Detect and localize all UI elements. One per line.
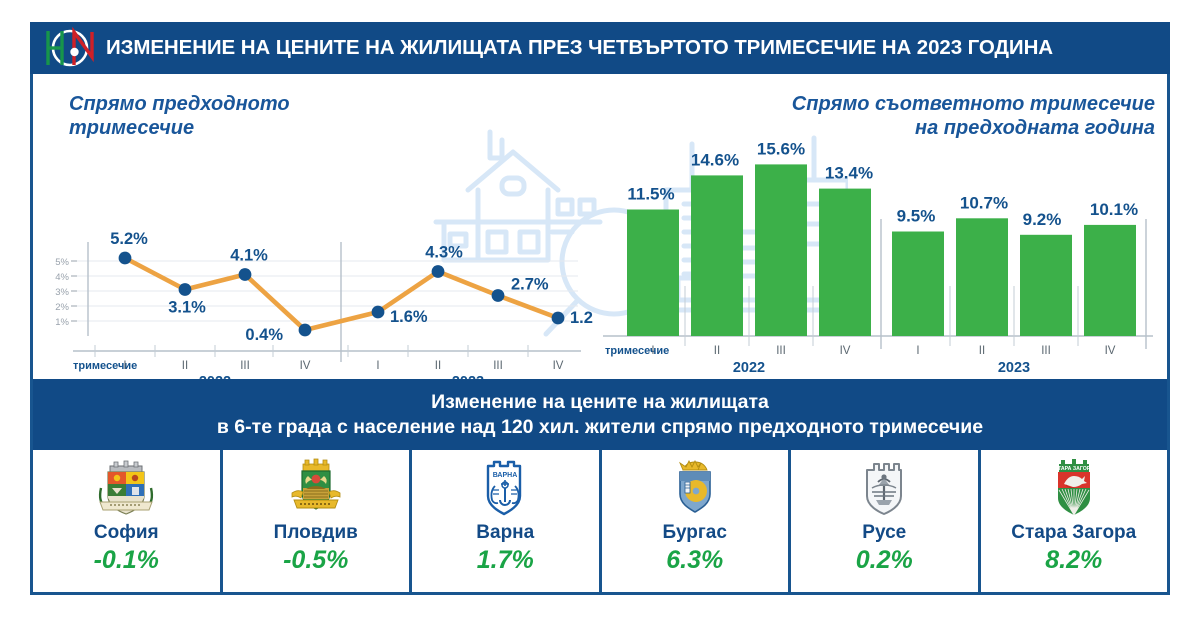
x-tick-label: II bbox=[182, 360, 188, 372]
y-tick-label: 2% bbox=[55, 302, 69, 313]
x-tick-label: II bbox=[435, 360, 441, 372]
city-value: -0.5% bbox=[283, 546, 348, 575]
city-card-6[interactable]: СТАРА ЗАГОРА Стара Загора8.2% bbox=[978, 450, 1168, 592]
bar bbox=[1020, 235, 1072, 336]
header-bar: ИЗМЕНЕНИЕ НА ЦЕНИТЕ НА ЖИЛИЩАТА ПРЕЗ ЧЕТ… bbox=[30, 22, 1170, 74]
y-tick-label: 5% bbox=[55, 257, 69, 268]
plovdiv-coat-of-arms bbox=[284, 458, 348, 520]
data-label: 15.6% bbox=[757, 139, 805, 158]
data-label: 1.2% bbox=[570, 309, 593, 327]
svg-text:СТАРА ЗАГОРА: СТАРА ЗАГОРА bbox=[1054, 466, 1093, 472]
bar bbox=[956, 218, 1008, 336]
x-tick-label: II bbox=[714, 345, 720, 357]
bar bbox=[819, 189, 871, 336]
data-label: 10.1% bbox=[1090, 200, 1138, 219]
data-point bbox=[492, 289, 505, 302]
page-title: ИЗМЕНЕНИЕ НА ЦЕНИТЕ НА ЖИЛИЩАТА ПРЕЗ ЧЕТ… bbox=[106, 36, 1053, 60]
varna-coat-of-arms: ВАРНА bbox=[473, 458, 537, 520]
data-point bbox=[239, 268, 252, 281]
x-tick-label: I bbox=[376, 360, 379, 372]
data-label: 14.6% bbox=[691, 150, 739, 169]
bar bbox=[691, 175, 743, 336]
sofia-coat-of-arms bbox=[94, 458, 158, 520]
x-tick-label: II bbox=[979, 345, 985, 357]
x-tick-label: III bbox=[240, 360, 250, 372]
x-tick-label: III bbox=[1041, 345, 1051, 357]
data-label: 4.3% bbox=[425, 244, 463, 262]
data-label: 10.7% bbox=[960, 193, 1008, 212]
bar bbox=[755, 164, 807, 336]
city-card-4[interactable]: Бургас6.3% bbox=[599, 450, 789, 592]
city-name: Стара Загора bbox=[1011, 522, 1136, 544]
data-point bbox=[432, 265, 445, 278]
data-point bbox=[179, 283, 192, 296]
city-card-3[interactable]: ВАРНА Варна1.7% bbox=[409, 450, 599, 592]
city-value: 1.7% bbox=[477, 546, 534, 575]
nsi-logo bbox=[40, 27, 100, 69]
band-line-1: Изменение на цените на жилищата bbox=[431, 390, 769, 415]
data-label: 5.2% bbox=[110, 230, 148, 248]
city-name: София bbox=[94, 522, 159, 544]
x-tick-label: IV bbox=[840, 345, 851, 357]
data-label: 9.5% bbox=[897, 207, 936, 226]
data-label: 1.6% bbox=[390, 308, 428, 326]
city-value: 0.2% bbox=[856, 546, 913, 575]
bar-chart: 11.5%14.6%15.6%13.4%9.5%10.7%9.2%10.1%тр… bbox=[593, 74, 1167, 379]
data-point bbox=[119, 252, 132, 265]
year-label: 2022 bbox=[733, 360, 765, 376]
x-tick-label: IV bbox=[300, 360, 311, 372]
city-card-2[interactable]: Пловдив-0.5% bbox=[220, 450, 410, 592]
data-label: 3.1% bbox=[168, 299, 206, 317]
bar bbox=[892, 232, 944, 337]
city-value: 6.3% bbox=[666, 546, 723, 575]
data-label: 13.4% bbox=[825, 164, 873, 183]
city-name: Русе bbox=[862, 522, 906, 544]
x-tick-label: I bbox=[916, 345, 919, 357]
bar bbox=[627, 210, 679, 337]
x-tick-label: IV bbox=[553, 360, 564, 372]
city-value: 8.2% bbox=[1045, 546, 1102, 575]
city-card-5[interactable]: Русе0.2% bbox=[788, 450, 978, 592]
x-axis-title: тримесечие bbox=[605, 345, 669, 357]
data-label: 9.2% bbox=[1023, 210, 1062, 229]
band-line-2: в 6-те града с население над 120 хил. жи… bbox=[217, 415, 983, 440]
city-card-1[interactable]: София-0.1% bbox=[33, 450, 220, 592]
data-label: 4.1% bbox=[230, 247, 268, 265]
line-chart: 1%2%3%4%5%5.2%3.1%4.1%0.4%1.6%4.3%2.7%1.… bbox=[33, 74, 593, 379]
city-cards: София-0.1% Пловдив-0.5% ВАРНА bbox=[33, 450, 1167, 592]
city-name: Варна bbox=[476, 522, 534, 544]
charts-area: Спрямо предходното тримесечие Спрямо съо… bbox=[33, 74, 1167, 379]
y-tick-label: 4% bbox=[55, 272, 69, 283]
burgas-coat-of-arms bbox=[663, 458, 727, 520]
x-tick-label: I bbox=[651, 345, 654, 357]
bar bbox=[1084, 225, 1136, 336]
infographic-page: ИЗМЕНЕНИЕ НА ЦЕНИТЕ НА ЖИЛИЩАТА ПРЕЗ ЧЕТ… bbox=[0, 0, 1200, 628]
data-point bbox=[372, 306, 385, 319]
data-label: 2.7% bbox=[511, 276, 549, 294]
svg-text:ВАРНА: ВАРНА bbox=[493, 472, 518, 479]
data-label: 11.5% bbox=[627, 185, 674, 204]
data-point bbox=[299, 324, 312, 337]
x-tick-label: III bbox=[493, 360, 503, 372]
city-value: -0.1% bbox=[94, 546, 159, 575]
city-name: Бургас bbox=[663, 522, 727, 544]
section-caption-band: Изменение на цените на жилищата в 6-те г… bbox=[33, 379, 1167, 450]
x-tick-label: IV bbox=[1105, 345, 1116, 357]
x-tick-label: I bbox=[123, 360, 126, 372]
city-name: Пловдив bbox=[274, 522, 358, 544]
ruse-coat-of-arms bbox=[852, 458, 916, 520]
x-tick-label: III bbox=[776, 345, 786, 357]
year-label: 2023 bbox=[998, 360, 1030, 376]
y-tick-label: 3% bbox=[55, 287, 69, 298]
data-point bbox=[552, 312, 565, 325]
stara-zagora-coat-of-arms: СТАРА ЗАГОРА bbox=[1042, 458, 1106, 520]
data-label: 0.4% bbox=[245, 326, 283, 344]
y-tick-label: 1% bbox=[55, 317, 69, 328]
x-axis-title: тримесечие bbox=[73, 360, 137, 372]
